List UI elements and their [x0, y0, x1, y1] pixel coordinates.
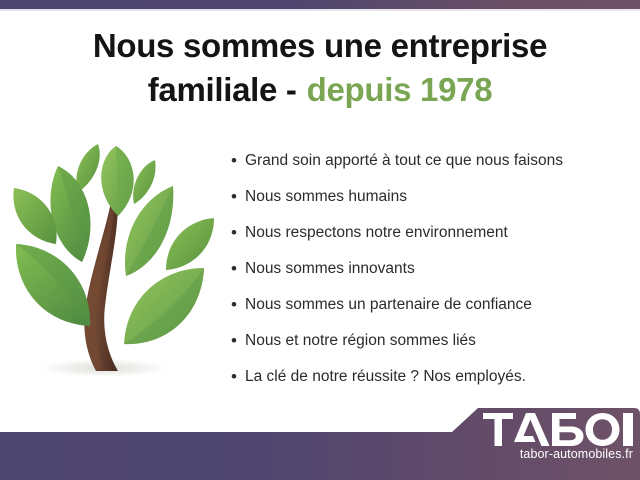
- tree-leaf-far-right: [166, 218, 214, 270]
- bullet-list: • Grand soin apporté à tout ce que nous …: [231, 148, 631, 400]
- bullet-marker-icon: •: [231, 292, 245, 318]
- top-accent-hairline: [0, 9, 640, 11]
- bullet-marker-icon: •: [231, 148, 245, 174]
- slide-title-line-2-accent: depuis 1978: [307, 71, 493, 108]
- tree-illustration: [8, 140, 223, 390]
- bullet-marker-icon: •: [231, 220, 245, 246]
- slide-title-line-1: Nous sommes une entreprise: [93, 27, 547, 64]
- list-item-label: Nous respectons notre environnement: [245, 220, 631, 246]
- list-item: • Grand soin apporté à tout ce que nous …: [231, 148, 631, 184]
- wordmark-letter-B: [552, 413, 584, 446]
- slide-title: Nous sommes une entreprise familiale -de…: [0, 26, 640, 110]
- slide-title-line-2: familiale -depuis 1978: [0, 70, 640, 110]
- tree-leaf-far-left: [13, 188, 56, 244]
- brand-logo[interactable]: tabor-automobiles.fr: [483, 413, 633, 471]
- bullet-marker-icon: •: [231, 328, 245, 354]
- slide-title-line-2-black: familiale -: [148, 71, 297, 108]
- list-item-label: Nous sommes un partenaire de confiance: [245, 292, 631, 318]
- wordmark-letter-A: [514, 413, 550, 446]
- list-item: • La clé de notre réussite ? Nos employé…: [231, 364, 631, 400]
- tabor-wordmark: [483, 413, 633, 447]
- wordmark-letter-O: [586, 413, 620, 446]
- bullet-marker-icon: •: [231, 256, 245, 282]
- list-item: • Nous sommes innovants: [231, 256, 631, 292]
- bullet-marker-icon: •: [231, 184, 245, 210]
- list-item-label: Grand soin apporté à tout ce que nous fa…: [245, 148, 631, 174]
- list-item: • Nous sommes humains: [231, 184, 631, 220]
- list-item: • Nous et notre région sommes liés: [231, 328, 631, 364]
- list-item-label: Nous et notre région sommes liés: [245, 328, 631, 354]
- list-item-label: Nous sommes innovants: [245, 256, 631, 282]
- list-item-label: Nous sommes humains: [245, 184, 631, 210]
- top-accent-strip: [0, 0, 640, 9]
- wordmark-letter-R: [623, 413, 633, 446]
- bullet-marker-icon: •: [231, 364, 245, 390]
- wordmark-letter-T: [483, 413, 513, 446]
- brand-tagline: tabor-automobiles.fr: [483, 447, 633, 461]
- tree-leaf-upper-right-small: [133, 160, 155, 204]
- list-item-label: La clé de notre réussite ? Nos employés.: [245, 364, 631, 390]
- tree-leaf-upper-left-small: [76, 144, 100, 192]
- list-item: • Nous respectons notre environnement: [231, 220, 631, 256]
- list-item: • Nous sommes un partenaire de confiance: [231, 292, 631, 328]
- tree-leaf-top-center-shade: [116, 146, 134, 216]
- slide-canvas: Nous sommes une entreprise familiale -de…: [0, 0, 640, 480]
